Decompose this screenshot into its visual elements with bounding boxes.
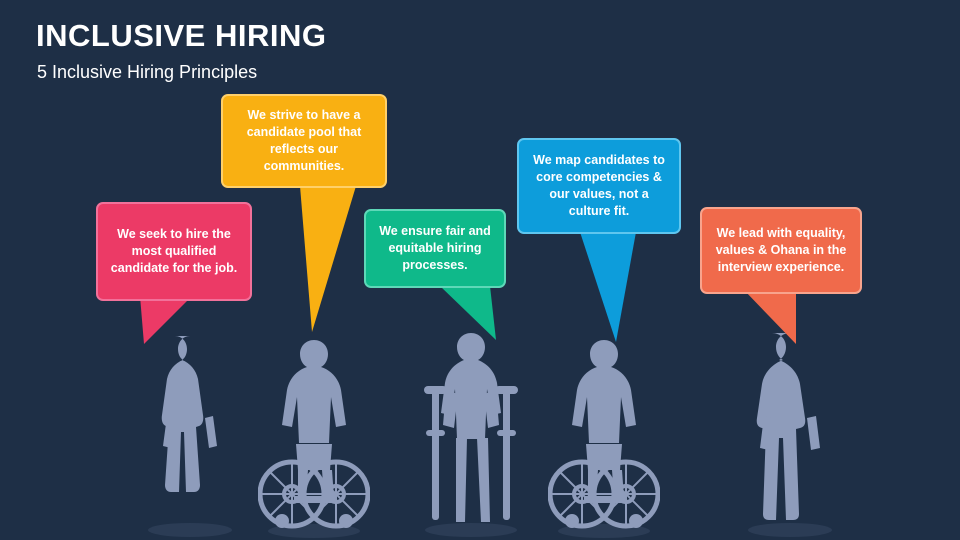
callout-text-1: We seek to hire the most qualified candi… — [108, 226, 240, 277]
callout-bubble-2[interactable]: We strive to have a candidate pool that … — [221, 94, 387, 188]
callout-tail-1 — [130, 296, 210, 346]
callout-text-2: We strive to have a candidate pool that … — [233, 107, 375, 175]
person-crutches-icon-3 — [412, 330, 530, 538]
callout-tail-4 — [572, 232, 658, 344]
person-standing-icon-1 — [140, 332, 240, 537]
person-wheelchair-icon-4 — [548, 338, 660, 538]
callout-tail-3 — [434, 286, 506, 342]
page-subtitle: 5 Inclusive Hiring Principles — [37, 62, 257, 83]
callout-bubble-4[interactable]: We map candidates to core competencies &… — [517, 138, 681, 234]
callout-bubble-1[interactable]: We seek to hire the most qualified candi… — [96, 202, 252, 301]
callout-text-5: We lead with equality, values & Ohana in… — [712, 225, 850, 276]
callout-bubble-3[interactable]: We ensure fair and equitable hiring proc… — [364, 209, 506, 288]
callout-bubble-5[interactable]: We lead with equality, values & Ohana in… — [700, 207, 862, 294]
person-standing-icon-5 — [740, 330, 840, 538]
slide-canvas: INCLUSIVE HIRING 5 Inclusive Hiring Prin… — [0, 0, 960, 540]
callout-tail-5 — [722, 290, 808, 346]
callout-text-3: We ensure fair and equitable hiring proc… — [376, 223, 494, 274]
page-title: INCLUSIVE HIRING — [36, 18, 326, 54]
person-wheelchair-icon-2 — [258, 338, 370, 538]
callout-text-4: We map candidates to core competencies &… — [529, 152, 669, 220]
